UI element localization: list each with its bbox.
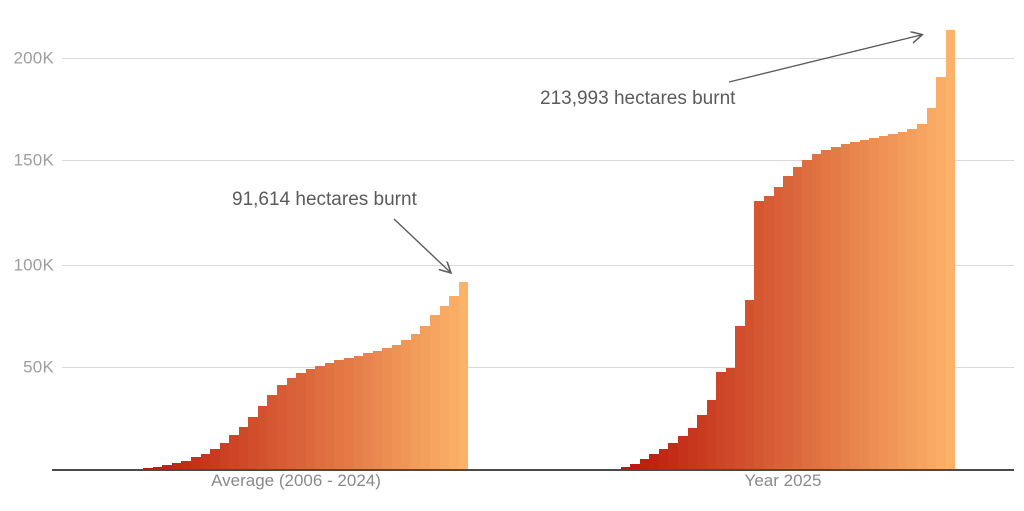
bar (363, 353, 373, 470)
bar (210, 449, 220, 470)
bar (754, 201, 764, 470)
bar (716, 372, 726, 470)
bar (459, 282, 469, 470)
annotation-year2025-label: 213,993 hectares burnt (540, 89, 735, 108)
ytick-label-150k: 150K (6, 152, 54, 169)
bar (649, 454, 659, 470)
bar (344, 358, 354, 470)
bar (296, 373, 306, 470)
x-axis-label-average: Average (2006 - 2024) (124, 472, 468, 489)
bar (392, 345, 402, 470)
annotation-average-label: 91,614 hectares burnt (232, 190, 417, 209)
ytick-label-100k: 100K (6, 257, 54, 274)
bar (258, 406, 268, 470)
bar (659, 449, 669, 470)
bar (927, 108, 937, 470)
ytick-label-200k: 200K (6, 50, 54, 67)
bar (783, 176, 793, 470)
x-axis-label-year2025: Year 2025 (611, 472, 955, 489)
bar (277, 385, 287, 470)
bar (239, 427, 249, 470)
bar (401, 340, 411, 470)
bar (735, 326, 745, 470)
bar (411, 334, 421, 470)
bar (774, 187, 784, 470)
bar (879, 136, 889, 470)
bar (936, 77, 946, 470)
bar (325, 363, 335, 470)
bar (802, 160, 812, 470)
bar (354, 356, 364, 470)
bar (267, 395, 277, 470)
bar (841, 144, 851, 470)
bar (917, 124, 927, 470)
bar (831, 147, 841, 470)
bar (229, 435, 239, 470)
bar (821, 150, 831, 470)
bar (860, 140, 870, 470)
bar (907, 129, 917, 470)
bar (449, 296, 459, 470)
bar (726, 368, 736, 470)
ytick-label-50k: 50K (6, 359, 54, 376)
bar (697, 415, 707, 470)
bar (315, 366, 325, 470)
bar-panel-average (124, 30, 468, 470)
bar (678, 436, 688, 470)
bar-series-average (124, 30, 468, 470)
bar (306, 369, 316, 470)
bar (440, 306, 450, 470)
bar (373, 351, 383, 470)
chart-root: 200K 150K 100K 50K Average (2006 - 2024)… (0, 0, 1024, 511)
bar (668, 443, 678, 470)
bar (764, 196, 774, 470)
bar (793, 167, 803, 470)
x-axis-baseline (52, 469, 1014, 471)
bar (420, 326, 430, 470)
bar (248, 417, 258, 470)
bar (812, 154, 822, 470)
bar (946, 30, 956, 470)
bar (334, 360, 344, 470)
bar (869, 138, 879, 470)
bar (688, 428, 698, 470)
bar (898, 132, 908, 470)
bar (430, 315, 440, 470)
bar (888, 134, 898, 470)
bar (850, 142, 860, 470)
bar (201, 454, 211, 470)
bar (382, 348, 392, 470)
bar (220, 443, 230, 470)
bar (745, 300, 755, 470)
bar (707, 400, 717, 470)
bar (287, 378, 297, 470)
